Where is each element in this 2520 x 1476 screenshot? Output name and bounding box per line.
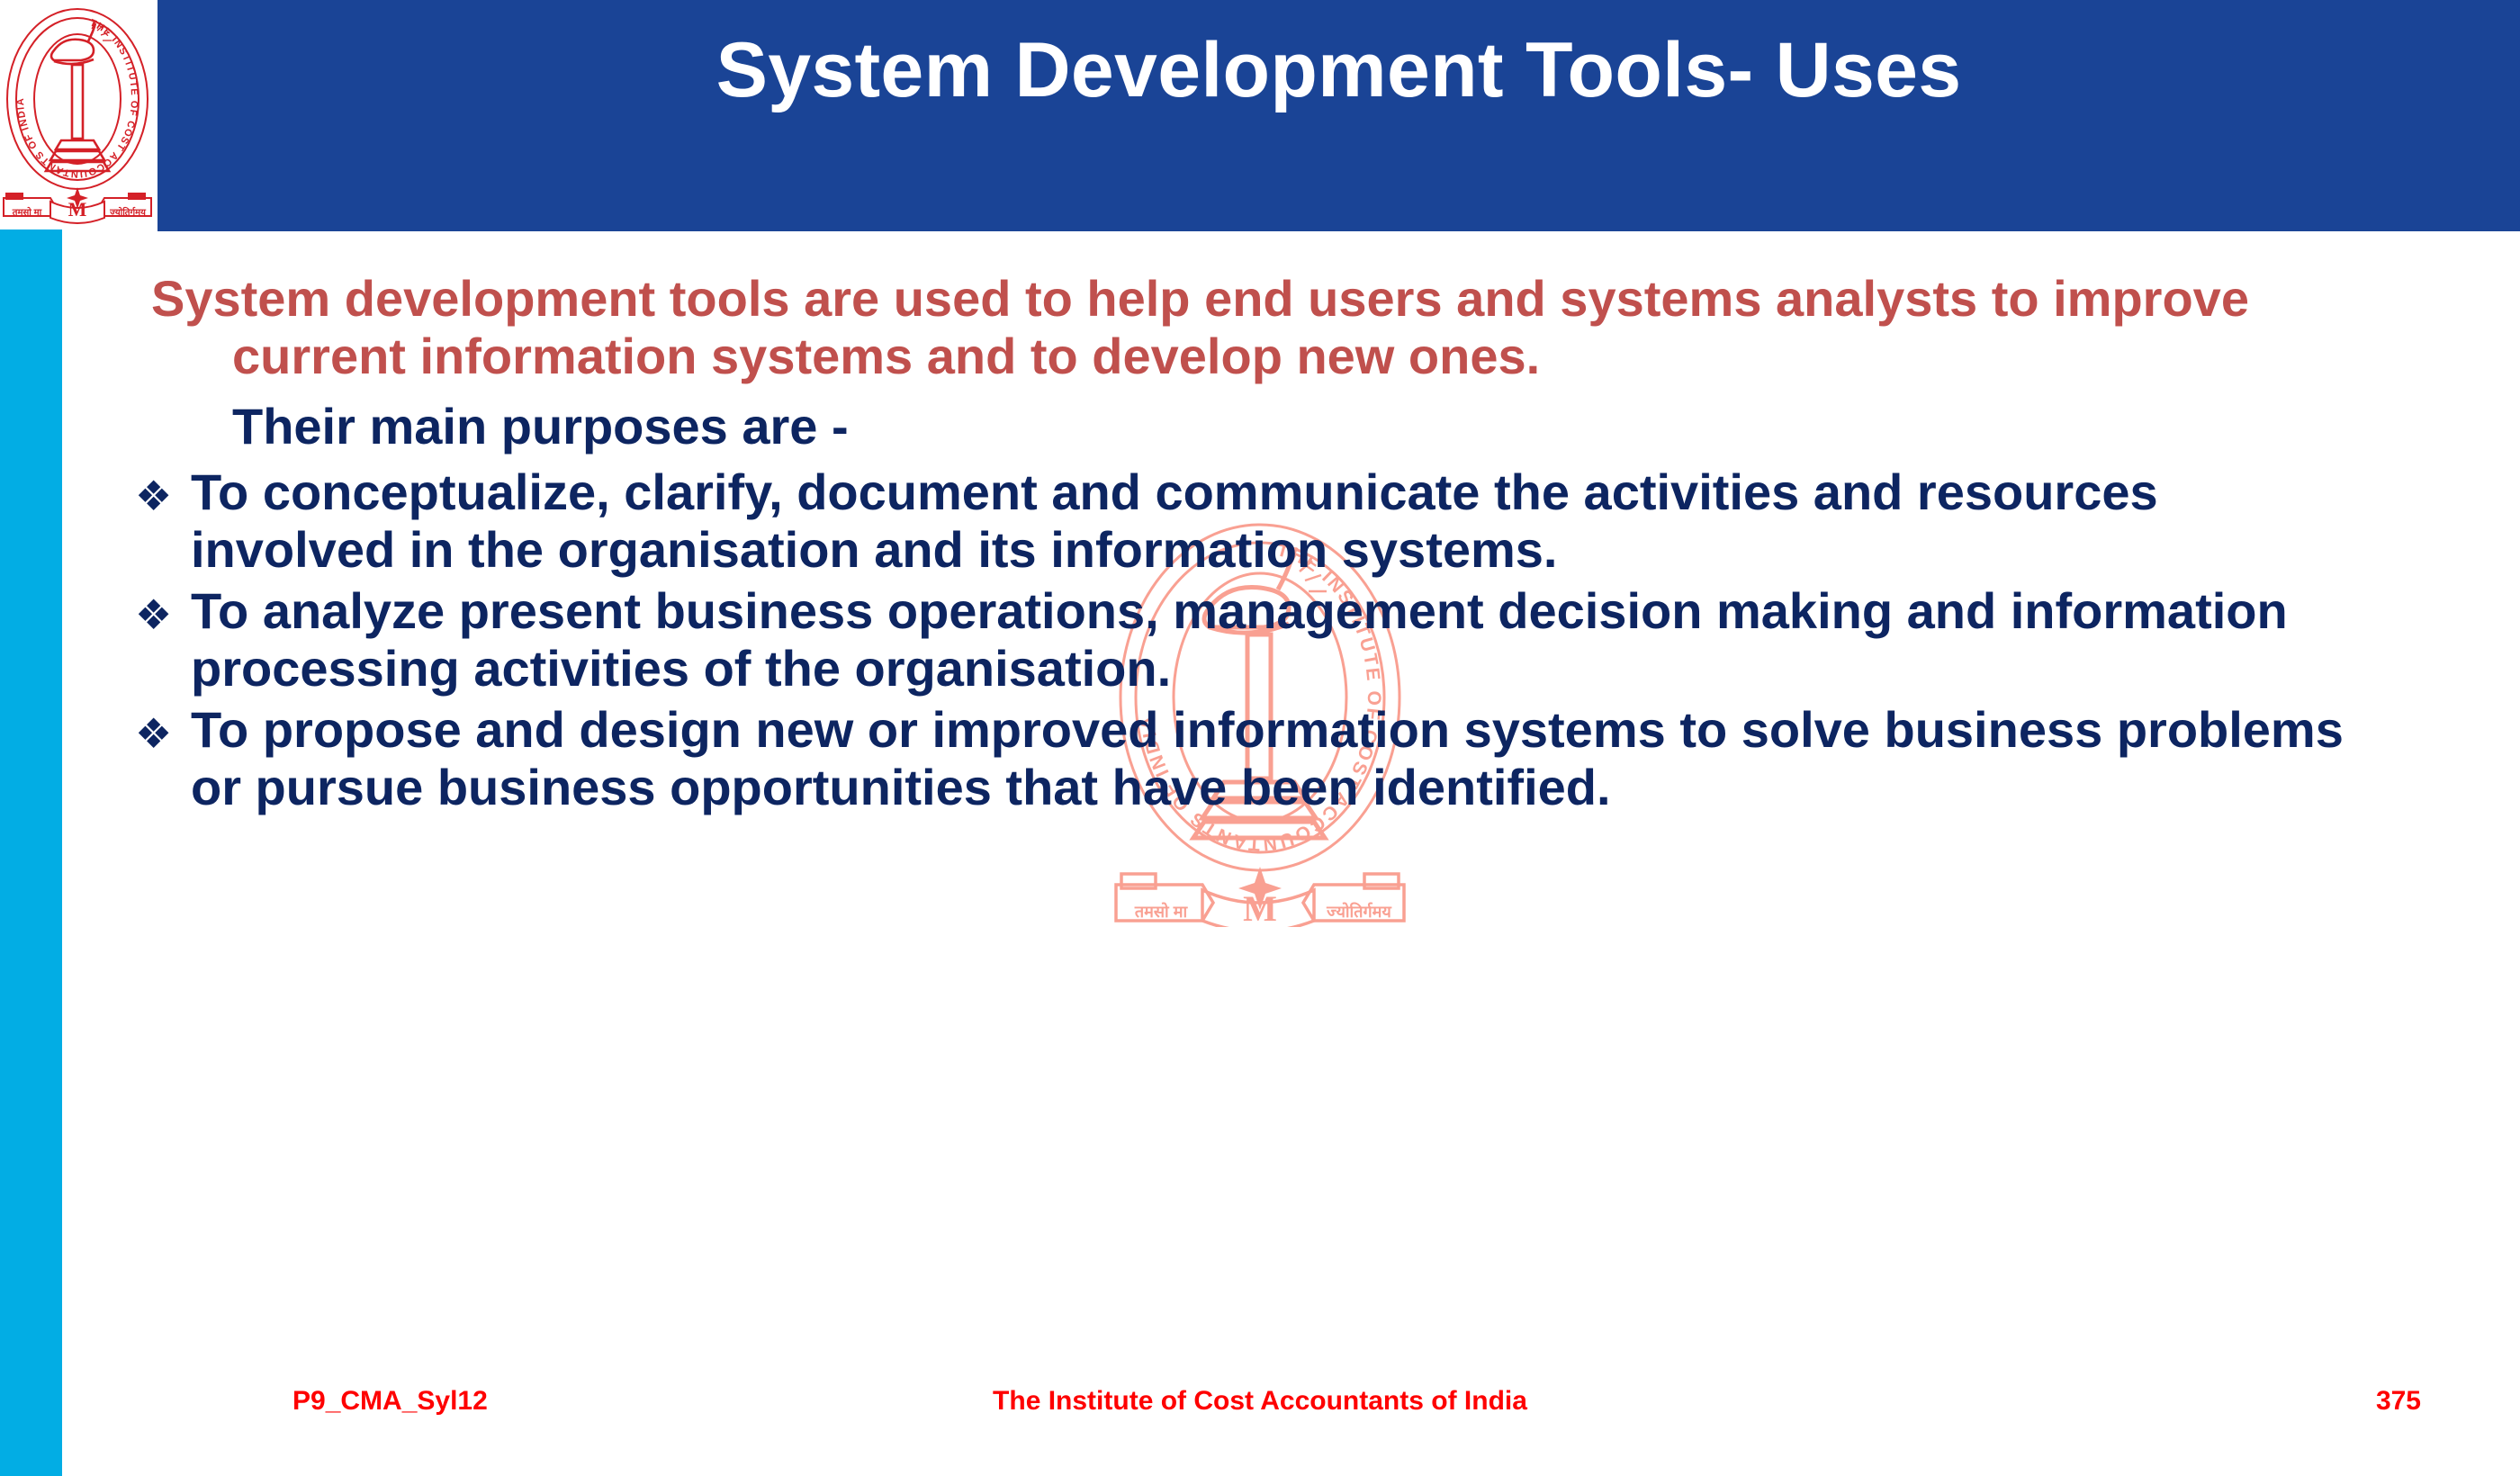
list-item: ❖ To analyze present business operations… bbox=[135, 582, 2493, 697]
list-item: ❖ To propose and design new or improved … bbox=[135, 701, 2493, 816]
list-item: ❖ To conceptualize, clarify, document an… bbox=[135, 463, 2493, 579]
footer-page-number: 375 bbox=[2376, 1386, 2421, 1417]
svg-text:ज्योतिर्गमय: ज्योतिर्गमय bbox=[109, 206, 147, 218]
purpose-bullet-list: ❖ To conceptualize, clarify, document an… bbox=[135, 463, 2493, 815]
svg-text:M: M bbox=[68, 198, 87, 220]
institute-logo-icon: THE INSTITUTE OF COST ACCOUNTANTS OF IND… bbox=[2, 2, 153, 232]
slide-footer: P9_CMA_Syl12 The Institute of Cost Accou… bbox=[0, 1386, 2520, 1440]
page-title: System Development Tools- Uses bbox=[157, 0, 2520, 231]
diamond-bullet-icon: ❖ bbox=[135, 582, 191, 643]
svg-text:M: M bbox=[1243, 888, 1277, 927]
list-item-text: To analyze present business operations, … bbox=[191, 582, 2351, 697]
svg-text:ज्योतिर्गमय: ज्योतिर्गमय bbox=[1326, 902, 1392, 921]
presentation-slide: System Development Tools- Uses THE INSTI… bbox=[0, 0, 2520, 1476]
purposes-lead-in: Their main purposes are - bbox=[135, 398, 2493, 455]
list-item-text: To propose and design new or improved in… bbox=[191, 701, 2351, 816]
footer-institute-name: The Institute of Cost Accountants of Ind… bbox=[0, 1386, 2520, 1417]
svg-text:तमसो मा: तमसो मा bbox=[12, 206, 42, 218]
intro-paragraph: System development tools are used to hel… bbox=[135, 270, 2392, 385]
slide-body: System development tools are used to hel… bbox=[135, 270, 2493, 819]
svg-text:तमसो मा: तमसो मा bbox=[1134, 902, 1189, 921]
diamond-bullet-icon: ❖ bbox=[135, 701, 191, 761]
list-item-text: To conceptualize, clarify, document and … bbox=[191, 463, 2351, 579]
left-accent-bar bbox=[0, 229, 62, 1476]
diamond-bullet-icon: ❖ bbox=[135, 463, 191, 524]
